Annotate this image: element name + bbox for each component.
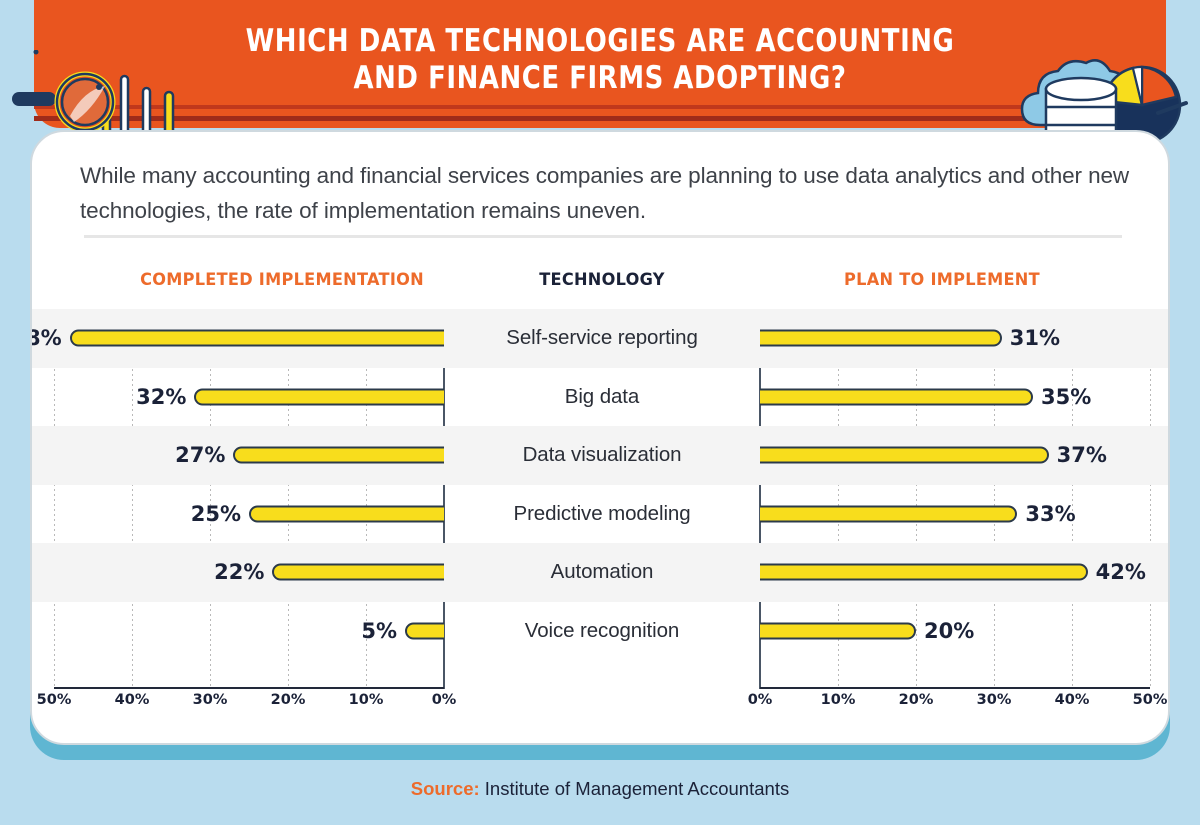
tick-label-right-30: 30% <box>977 692 1012 708</box>
table-row: 27%Data visualization37% <box>32 426 1170 485</box>
bar-value-completed: 27% <box>175 443 225 467</box>
bar-fill-completed <box>70 330 444 347</box>
tick-label-left-40: 40% <box>115 692 150 708</box>
source-label: Source: <box>411 778 480 799</box>
row-right-bar-cell: 35% <box>760 368 1150 427</box>
technology-label: Self-service reporting <box>444 309 760 368</box>
bar-completed[interactable] <box>272 564 444 581</box>
bar-fill-plan <box>760 330 1002 347</box>
bar-plan[interactable] <box>760 388 1033 405</box>
row-right-bar-cell: 42% <box>760 543 1150 602</box>
header-title-line-1: WHICH DATA TECHNOLOGIES ARE ACCOUNTING <box>42 23 1158 60</box>
bar-plan[interactable] <box>760 505 1017 522</box>
bar-fill-plan <box>760 505 1017 522</box>
tick-label-left-0: 0% <box>432 692 457 708</box>
bar-fill-completed <box>249 505 444 522</box>
table-row: 25%Predictive modeling33% <box>32 485 1170 544</box>
technology-label: Voice recognition <box>444 602 760 661</box>
row-technology-cell: Data visualization <box>444 426 760 485</box>
tick-label-right-50: 50% <box>1133 692 1168 708</box>
bar-value-completed: 22% <box>214 560 264 584</box>
tick-label-right-10: 10% <box>821 692 856 708</box>
axis-ticks-left: 50%40%30%20%10%0% <box>54 692 444 722</box>
bar-value-completed: 48% <box>30 326 62 350</box>
bar-fill-completed <box>194 388 444 405</box>
bar-value-completed: 5% <box>361 619 397 643</box>
bar-value-plan: 37% <box>1057 443 1107 467</box>
bar-fill-plan <box>760 622 916 639</box>
row-right-bar-cell: 33% <box>760 485 1150 544</box>
row-right-bar-cell: 31% <box>760 309 1150 368</box>
table-row: 48%Self-service reporting31% <box>32 309 1170 368</box>
tick-label-right-40: 40% <box>1055 692 1090 708</box>
row-technology-cell: Big data <box>444 368 760 427</box>
bar-fill-completed <box>272 564 444 581</box>
tick-label-left-30: 30% <box>193 692 228 708</box>
bar-plan[interactable] <box>760 564 1088 581</box>
tick-label-right-0: 0% <box>748 692 773 708</box>
table-row: 32%Big data35% <box>32 368 1170 427</box>
table-row: 5%Voice recognition20% <box>32 602 1170 661</box>
technology-label: Predictive modeling <box>444 485 760 544</box>
bar-value-plan: 20% <box>924 619 974 643</box>
bar-value-plan: 31% <box>1010 326 1060 350</box>
bar-fill-completed <box>405 622 444 639</box>
tick-label-right-20: 20% <box>899 692 934 708</box>
header-title-line-2: AND FINANCE FIRMS ADOPTING? <box>42 60 1158 97</box>
source-footer: Source: Institute of Management Accounta… <box>0 778 1200 800</box>
row-right-bar-cell: 20% <box>760 602 1150 661</box>
bar-completed[interactable] <box>249 505 444 522</box>
bar-value-plan: 33% <box>1025 502 1075 526</box>
row-technology-cell: Automation <box>444 543 760 602</box>
column-header-plan: PLAN TO IMPLEMENT <box>743 270 1142 290</box>
tick-label-left-10: 10% <box>349 692 384 708</box>
bar-value-plan: 42% <box>1096 560 1146 584</box>
bar-fill-plan <box>760 564 1088 581</box>
tick-label-left-20: 20% <box>271 692 306 708</box>
source-value: Institute of Management Accountants <box>485 778 789 799</box>
row-right-bar-cell: 37% <box>760 426 1150 485</box>
section-divider <box>84 235 1122 238</box>
row-technology-cell: Predictive modeling <box>444 485 760 544</box>
infographic-root: While many accounting and financial serv… <box>0 0 1200 825</box>
bar-value-completed: 32% <box>136 385 186 409</box>
row-left-bar-cell: 25% <box>54 485 444 544</box>
technology-label: Automation <box>444 543 760 602</box>
bar-plan[interactable] <box>760 447 1049 464</box>
row-left-bar-cell: 22% <box>54 543 444 602</box>
technology-label: Data visualization <box>444 426 760 485</box>
bar-value-completed: 25% <box>191 502 241 526</box>
row-left-bar-cell: 48% <box>54 309 444 368</box>
content-card: While many accounting and financial serv… <box>30 130 1170 745</box>
bar-completed[interactable] <box>70 330 444 347</box>
bar-fill-plan <box>760 447 1049 464</box>
tick-label-left-50: 50% <box>37 692 72 708</box>
technology-label: Big data <box>444 368 760 427</box>
chart-rows: 48%Self-service reporting31%32%Big data3… <box>32 309 1170 689</box>
table-row: 22%Automation42% <box>32 543 1170 602</box>
column-header-completed: COMPLETED IMPLEMENTATION <box>83 270 482 290</box>
bar-plan[interactable] <box>760 330 1002 347</box>
axis-ticks-right: 0%10%20%30%40%50% <box>760 692 1150 722</box>
bar-completed[interactable] <box>233 447 444 464</box>
bar-value-plan: 35% <box>1041 385 1091 409</box>
row-left-bar-cell: 27% <box>54 426 444 485</box>
row-technology-cell: Self-service reporting <box>444 309 760 368</box>
bar-completed[interactable] <box>194 388 444 405</box>
row-left-bar-cell: 5% <box>54 602 444 661</box>
row-left-bar-cell: 32% <box>54 368 444 427</box>
header-title: WHICH DATA TECHNOLOGIES ARE ACCOUNTINGAN… <box>42 23 1158 97</box>
column-header-technology: TECHNOLOGY <box>469 270 735 290</box>
bar-plan[interactable] <box>760 622 916 639</box>
bar-fill-plan <box>760 388 1033 405</box>
bar-completed[interactable] <box>405 622 444 639</box>
intro-paragraph: While many accounting and financial serv… <box>80 158 1130 228</box>
bar-fill-completed <box>233 447 444 464</box>
row-technology-cell: Voice recognition <box>444 602 760 661</box>
